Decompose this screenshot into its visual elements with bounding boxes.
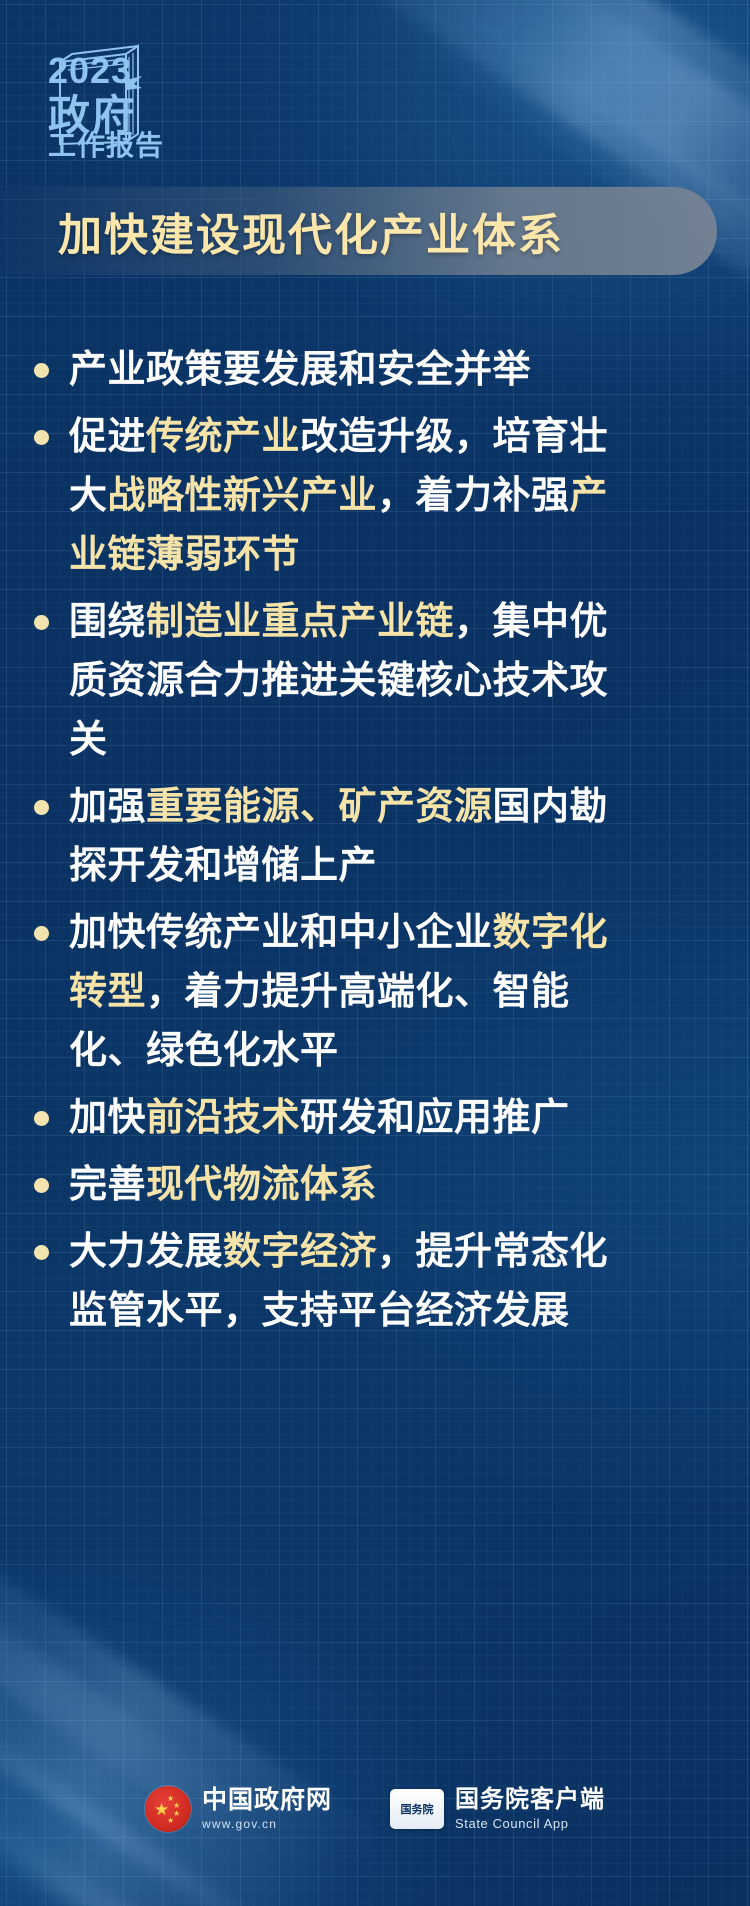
- poster-canvas: 2023 政府 工作报告 加快建设现代化产业体系 产业政策要发展和安全并举促进传…: [0, 0, 750, 1906]
- bullet-text-plain: 围绕: [69, 601, 146, 643]
- bullet-text-highlight: 前沿技术: [146, 1097, 300, 1139]
- bullet-text: 大力发展数字经济，提升常态化监管水平，支持平台经济发展: [69, 1223, 609, 1341]
- state-council-badge-icon: 国务院: [390, 1789, 444, 1829]
- gov-site-name: 中国政府网: [202, 1787, 332, 1815]
- bullet-text-plain: 产业政策要发展和安全并举: [69, 349, 531, 391]
- footer-gov-group[interactable]: ★ ★ ★ ★ ★ 中国政府网 www.gov.cn: [145, 1786, 332, 1832]
- bullet-item: 围绕制造业重点产业链，集中优质资源合力推进关键核心技术攻关: [34, 593, 724, 770]
- bullet-item: 促进传统产业改造升级，培育壮大战略性新兴产业，着力补强产业链薄弱环节: [34, 408, 724, 585]
- footer-council-group[interactable]: 国务院 国务院客户端 State Council App: [390, 1787, 605, 1831]
- bullet-dot-icon: [34, 926, 49, 941]
- bullet-dot-icon: [34, 363, 49, 378]
- footer: ★ ★ ★ ★ ★ 中国政府网 www.gov.cn 国务院 国务院客户端 St…: [0, 1786, 750, 1832]
- bullet-dot-icon: [34, 1178, 49, 1193]
- council-app-name: 国务院客户端: [455, 1787, 605, 1813]
- national-emblem-icon: ★ ★ ★ ★ ★: [145, 1786, 191, 1832]
- bullet-text-plain: 促进: [69, 416, 146, 458]
- bullet-text-highlight: 战略性新兴产业: [108, 475, 378, 517]
- bullet-list: 产业政策要发展和安全并举促进传统产业改造升级，培育壮大战略性新兴产业，着力补强产…: [34, 341, 724, 1349]
- bullet-text-plain: ，着力补强: [377, 475, 570, 517]
- gov-site-url: www.gov.cn: [202, 1817, 332, 1831]
- bullet-text-plain: 加快: [69, 1097, 146, 1139]
- bullet-text-highlight: 数字经济: [223, 1231, 377, 1273]
- bullet-item: 产业政策要发展和安全并举: [34, 341, 724, 400]
- bullet-text: 完善现代物流体系: [69, 1156, 377, 1215]
- bullet-text-highlight: 现代物流体系: [146, 1164, 377, 1206]
- bullet-item: 加快前沿技术研发和应用推广: [34, 1089, 724, 1148]
- council-app-subtitle: State Council App: [455, 1816, 605, 1831]
- bullet-item: 完善现代物流体系: [34, 1156, 724, 1215]
- bullet-text-plain: 完善: [69, 1164, 146, 1206]
- bullet-item: 加快传统产业和中小企业数字化转型，着力提升高端化、智能化、绿色化水平: [34, 904, 724, 1081]
- bullet-text-plain: 大力发展: [69, 1231, 223, 1273]
- logo-line2: 工作报告: [48, 124, 164, 164]
- bullet-text-plain: 研发和应用推广: [300, 1097, 570, 1139]
- bullet-text: 产业政策要发展和安全并举: [69, 341, 531, 400]
- state-council-badge-text: 国务院: [401, 1801, 434, 1817]
- bullet-text-highlight: 制造业重点产业链: [146, 601, 454, 643]
- bullet-item: 大力发展数字经济，提升常态化监管水平，支持平台经济发展: [34, 1223, 724, 1341]
- bullet-dot-icon: [34, 1111, 49, 1126]
- section-title-banner: 加快建设现代化产业体系: [0, 187, 717, 275]
- bullet-text: 加快前沿技术研发和应用推广: [69, 1089, 570, 1148]
- bullet-text-plain: 加快传统产业和中小企业: [69, 912, 493, 954]
- bullet-dot-icon: [34, 430, 49, 445]
- page-title: 加快建设现代化产业体系: [58, 199, 564, 263]
- bullet-text: 加强重要能源、矿产资源国内勘探开发和增储上产: [69, 778, 609, 896]
- bullet-text: 促进传统产业改造升级，培育壮大战略性新兴产业，着力补强产业链薄弱环节: [69, 408, 609, 585]
- bullet-text-highlight: 重要能源、矿产资源: [146, 786, 493, 828]
- bullet-text: 围绕制造业重点产业链，集中优质资源合力推进关键核心技术攻关: [69, 593, 609, 770]
- bullet-dot-icon: [34, 615, 49, 630]
- report-logo: 2023 政府 工作报告: [38, 32, 228, 160]
- bullet-item: 加强重要能源、矿产资源国内勘探开发和增储上产: [34, 778, 724, 896]
- bullet-text: 加快传统产业和中小企业数字化转型，着力提升高端化、智能化、绿色化水平: [69, 904, 609, 1081]
- bullet-text-plain: 加强: [69, 786, 146, 828]
- bullet-dot-icon: [34, 800, 49, 815]
- bullet-dot-icon: [34, 1245, 49, 1260]
- bullet-text-highlight: 传统产业: [146, 416, 300, 458]
